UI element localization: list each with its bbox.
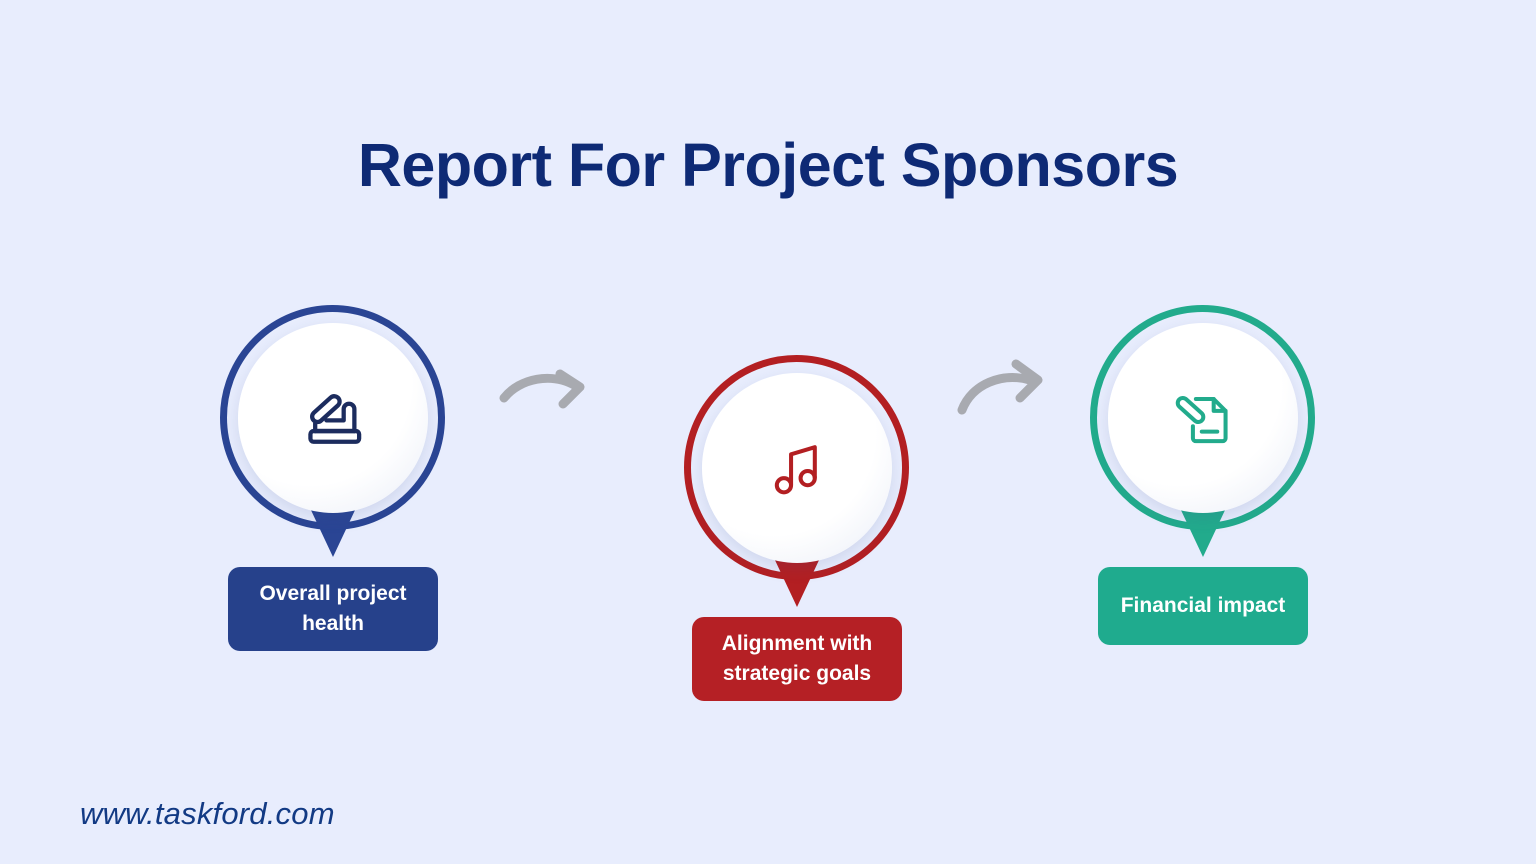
pin-marker bbox=[208, 295, 458, 545]
curved-arrow-right-icon bbox=[950, 350, 1080, 430]
curved-arrow-right-icon bbox=[490, 350, 620, 430]
step-financial-impact[interactable]: Financial impact bbox=[1078, 295, 1328, 545]
pin-inner-circle bbox=[1108, 323, 1298, 513]
step-label-chip[interactable]: Financial impact bbox=[1098, 567, 1308, 645]
document-signature-icon bbox=[1165, 380, 1241, 456]
step-overall-project-health[interactable]: Overall project health bbox=[208, 295, 458, 545]
pin-inner-circle bbox=[702, 373, 892, 563]
pin-marker bbox=[1078, 295, 1328, 545]
stamp-icon bbox=[295, 380, 371, 456]
pin-inner-circle bbox=[238, 323, 428, 513]
step-alignment-with-strategic-goals[interactable]: Alignment with strategic goals bbox=[672, 345, 922, 595]
step-label-chip[interactable]: Overall project health bbox=[228, 567, 438, 651]
step-label-chip[interactable]: Alignment with strategic goals bbox=[692, 617, 902, 701]
music-note-icon bbox=[759, 430, 835, 506]
steps-container: Overall project health Alignment with st… bbox=[0, 295, 1536, 735]
pin-marker bbox=[672, 345, 922, 595]
footer-website-url[interactable]: www.taskford.com bbox=[80, 796, 335, 832]
page-title: Report For Project Sponsors bbox=[0, 132, 1536, 199]
